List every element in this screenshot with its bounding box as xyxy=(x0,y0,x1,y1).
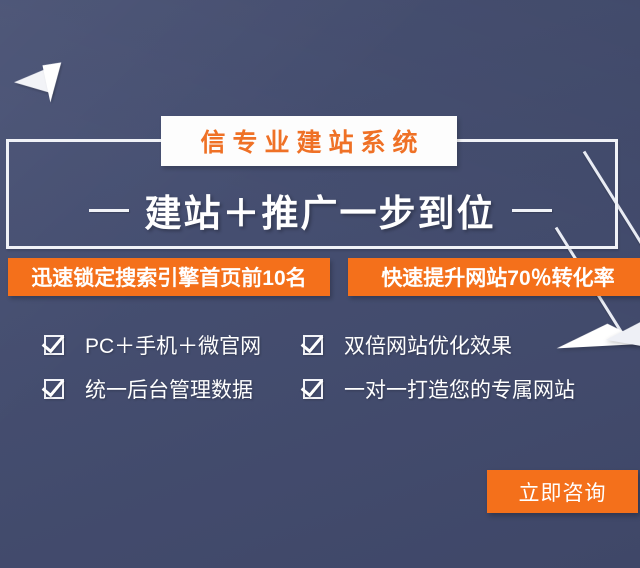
checkbox-checked-icon xyxy=(44,333,68,357)
feature-row: 统一后台管理数据 一对一打造您的专属网站 xyxy=(0,374,640,404)
highlight-strip-conversion-label: 快速提升网站70％转化率 xyxy=(381,262,614,292)
page-title: 建站＋推广一步到位 xyxy=(145,183,496,237)
feature-label: 统一后台管理数据 xyxy=(85,374,253,404)
feature-label: PC＋手机＋微官网 xyxy=(85,330,261,360)
feature-list: PC＋手机＋微官网 双倍网站优化效果 统一后台管理数据 一对一打造您的专 xyxy=(0,330,640,418)
feature-label: 双倍网站优化效果 xyxy=(344,330,512,360)
feature-item-double-seo: 双倍网站优化效果 xyxy=(295,330,640,360)
consult-now-button[interactable]: 立即咨询 xyxy=(487,470,638,513)
highlight-strip-rank-label: 迅速锁定搜索引擎首页前10名 xyxy=(31,262,306,292)
feature-item-pc-mobile-wechat: PC＋手机＋微官网 xyxy=(0,330,295,360)
feature-row: PC＋手机＋微官网 双倍网站优化效果 xyxy=(0,330,640,360)
feature-item-one-to-one: 一对一打造您的专属网站 xyxy=(295,374,640,404)
headline-row: 建站＋推广一步到位 xyxy=(0,183,640,237)
checkbox-checked-icon xyxy=(303,377,327,401)
paper-plane-wing-icon xyxy=(42,59,68,102)
feature-label: 一对一打造您的专属网站 xyxy=(344,374,575,404)
headline-dash-left xyxy=(89,209,129,212)
title-badge-label: 信专业建站系统 xyxy=(193,123,424,159)
feature-item-unified-backend: 统一后台管理数据 xyxy=(0,374,295,404)
checkbox-checked-icon xyxy=(44,377,68,401)
title-badge: 信专业建站系统 xyxy=(161,116,457,166)
checkbox-checked-icon xyxy=(303,333,327,357)
promo-banner: 信专业建站系统 建站＋推广一步到位 迅速锁定搜索引擎首页前10名 快速提升网站7… xyxy=(0,0,640,568)
headline-dash-right xyxy=(512,209,552,212)
highlight-strip-rank: 迅速锁定搜索引擎首页前10名 xyxy=(8,258,330,296)
highlight-strip-conversion: 快速提升网站70％转化率 xyxy=(348,258,640,296)
consult-now-button-label: 立即咨询 xyxy=(519,477,607,507)
